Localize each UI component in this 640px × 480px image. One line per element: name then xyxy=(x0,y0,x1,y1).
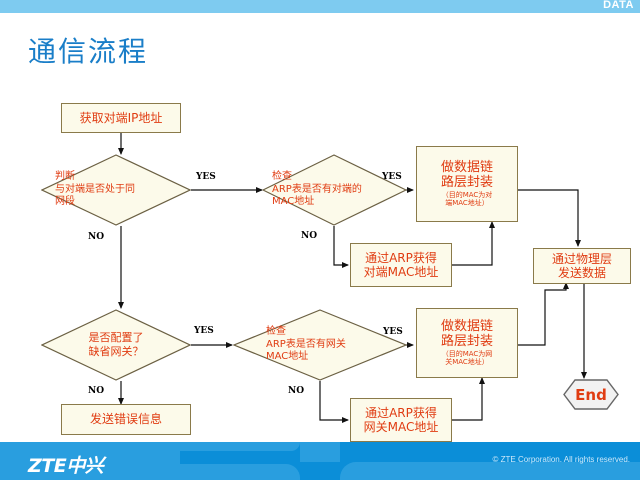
arp-get-gw-line2: 网关MAC地址 xyxy=(364,420,439,434)
edge-label-yes-3: YES xyxy=(194,326,214,336)
encap-gw-note2: 关MAC地址） xyxy=(445,358,489,367)
diamond-shape-2 xyxy=(262,154,407,226)
node-decide-same-subnet[interactable]: 判断 与对端是否处于同 网段 xyxy=(41,154,191,226)
edge-label-no-2: NO xyxy=(301,231,317,241)
send-physical-line1: 通过物理层 xyxy=(552,252,612,266)
send-physical-line2: 发送数据 xyxy=(558,266,606,280)
node-encap-gateway[interactable]: 做数据链 路层封装 （目的MAC为网 关MAC地址） xyxy=(416,308,518,378)
node-get-peer-ip[interactable]: 获取对端IP地址 xyxy=(61,103,181,133)
node-encap-peer[interactable]: 做数据链 路层封装 （目的MAC为对 端MAC地址） xyxy=(416,146,518,222)
edge-label-no-1: NO xyxy=(88,232,104,242)
encap-gw-line1: 做数据链 xyxy=(441,319,493,334)
node-send-physical[interactable]: 通过物理层 发送数据 xyxy=(533,248,631,284)
footer-bar: ZTE中兴 © ZTE Corporation. All rights rese… xyxy=(0,442,640,480)
header-data-label: DATA xyxy=(603,0,634,12)
arp-get-peer-line2: 对端MAC地址 xyxy=(364,265,439,279)
node-send-error[interactable]: 发送错误信息 xyxy=(61,404,191,435)
arp-get-peer-line1: 通过ARP获得 xyxy=(365,251,437,265)
encap-peer-note2: 端MAC地址） xyxy=(445,199,489,208)
diamond-shape-4 xyxy=(233,309,407,381)
page-title: 通信流程 xyxy=(28,30,148,70)
arp-get-gw-line1: 通过ARP获得 xyxy=(365,406,437,420)
edge-label-no-4: NO xyxy=(288,386,304,396)
footer-stripe-3 xyxy=(180,464,300,480)
copyright-text: © ZTE Corporation. All rights reserved. xyxy=(493,455,631,464)
node-check-arp-gateway[interactable]: 检查 ARP表是否有网关 MAC地址 xyxy=(233,309,407,381)
zte-logo: ZTE中兴 xyxy=(28,451,103,478)
edge-label-yes-2: YES xyxy=(382,172,402,182)
node-check-arp-peer[interactable]: 检查 ARP表是否有对端的 MAC地址 xyxy=(262,154,407,226)
encap-gw-line2: 路层封装 xyxy=(441,334,493,349)
edge-label-yes-1: YES xyxy=(196,172,216,182)
diamond-shape-1 xyxy=(41,154,191,226)
top-header-bar: DATA xyxy=(0,0,640,13)
node-end-label: End xyxy=(563,379,619,410)
footer-stripe-4 xyxy=(340,462,640,480)
footer-stripe-5 xyxy=(300,442,340,462)
send-error-line1: 发送错误信息 xyxy=(90,412,162,426)
footer-stripe-1 xyxy=(0,442,300,451)
node-arp-get-peer-mac[interactable]: 通过ARP获得 对端MAC地址 xyxy=(350,243,452,287)
encap-peer-line2: 路层封装 xyxy=(441,175,493,190)
node-decide-default-gateway[interactable]: 是否配置了 缺省网关？ xyxy=(41,309,191,381)
node-end[interactable]: End xyxy=(563,379,619,410)
node-get-peer-ip-line1: 获取对端IP地址 xyxy=(80,111,163,125)
edge-label-no-3: NO xyxy=(88,386,104,396)
encap-peer-line1: 做数据链 xyxy=(441,160,493,175)
edge-label-yes-4: YES xyxy=(383,327,403,337)
diamond-shape-3 xyxy=(41,309,191,381)
slide-canvas: DATA 通信流程 xyxy=(0,0,640,480)
node-arp-get-gateway-mac[interactable]: 通过ARP获得 网关MAC地址 xyxy=(350,398,452,442)
